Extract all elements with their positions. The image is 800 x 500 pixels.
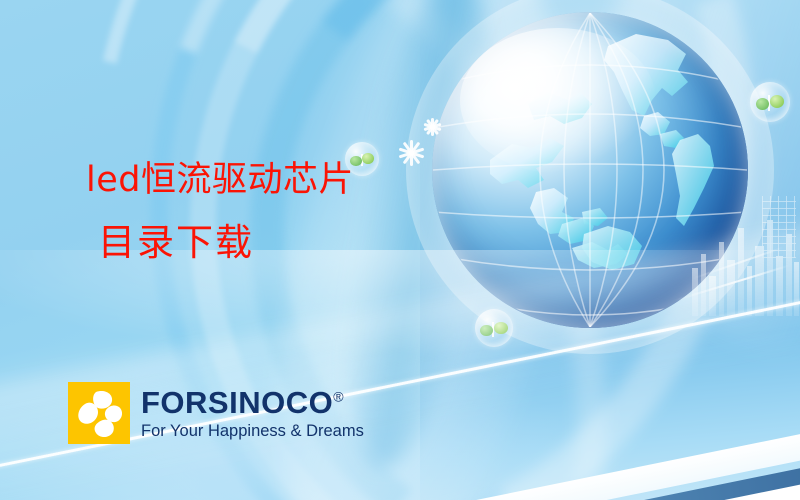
pinwheel-glyph [68, 382, 130, 444]
brand-name: FORSINOCO [141, 385, 333, 420]
eco-bubble-icon [475, 309, 513, 347]
globe-sphere [432, 12, 748, 328]
brand-tagline: For Your Happiness & Dreams [141, 423, 364, 440]
brand-text: FORSINOCO® For Your Happiness & Dreams [141, 387, 364, 440]
earth-globe-icon [432, 12, 748, 328]
headline-line-1: led恒流驱动芯片 [0, 162, 420, 199]
registered-mark: ® [333, 388, 344, 404]
eco-bubble-icon [750, 82, 790, 122]
four-petal-pinwheel-icon [68, 382, 130, 444]
globe-landmasses [490, 20, 718, 270]
globe-surface [432, 12, 748, 328]
slide-canvas: led恒流驱动芯片 目录下载 FORSINOCO® For Your Happi… [0, 0, 800, 500]
brand-name-row: FORSINOCO® [141, 387, 364, 418]
headline-line-2: 目录下载 [0, 224, 420, 263]
brand-logo: FORSINOCO® For Your Happiness & Dreams [68, 382, 364, 444]
headline-block: led恒流驱动芯片 目录下载 [0, 162, 420, 263]
